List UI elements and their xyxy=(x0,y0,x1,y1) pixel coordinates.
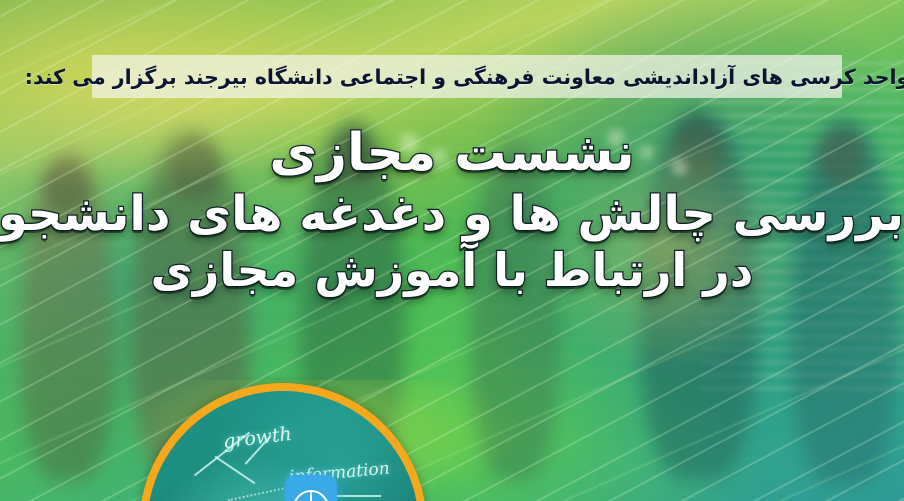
headline-line-2: بررسی چالش ها و دغدغه های دانشجویان xyxy=(0,189,904,240)
headline-block: نشست مجازی بررسی چالش ها و دغدغه های دان… xyxy=(0,126,904,295)
header-banner-strip: واحد کرسی های آزاداندیشی معاونت فرهنگی و… xyxy=(92,55,842,98)
headline-line-1: نشست مجازی xyxy=(0,126,904,181)
poster-canvas: واحد کرسی های آزاداندیشی معاونت فرهنگی و… xyxy=(0,0,904,501)
globe-app-tile-icon xyxy=(285,475,337,501)
organizer-announcement-text: واحد کرسی های آزاداندیشی معاونت فرهنگی و… xyxy=(25,65,904,89)
globe-glyph-icon xyxy=(293,490,329,501)
headline-line-3: در ارتباط با آموزش مجازی xyxy=(0,246,904,295)
badge-label-growth: growth xyxy=(222,423,293,453)
